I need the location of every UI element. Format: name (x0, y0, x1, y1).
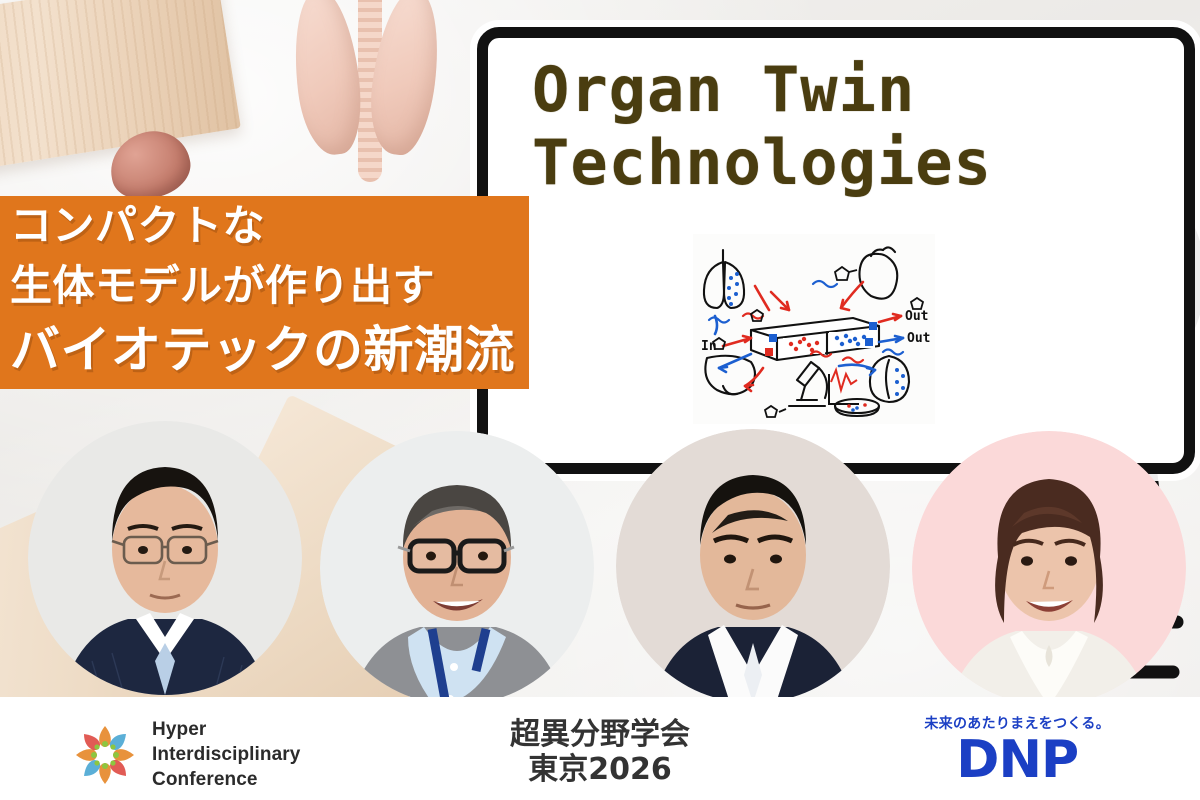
lung-model-prop (296, 0, 446, 197)
lung-lobe-left (286, 0, 368, 158)
chip-label-out-bottom: Out (907, 331, 930, 346)
speaker-3-illustration (616, 429, 890, 703)
whiteboard-title: Organ Twin Technologies (532, 54, 992, 199)
chip-label-in: In (701, 339, 717, 354)
speaker-4-illustration (912, 431, 1186, 705)
chip-label-out-top: Out (905, 309, 928, 324)
dnp-logo-block[interactable]: 未来のあたりまえをつくる。 DNP (924, 713, 1110, 786)
headline-line-3: バイオテックの新潮流 (0, 315, 529, 389)
speaker-2-illustration (320, 431, 594, 705)
headline-block: コンパクトな 生体モデルが作り出す バイオテックの新潮流 (0, 196, 529, 389)
speaker-portrait-1 (28, 421, 302, 695)
headline-line-1: コンパクトな (0, 196, 529, 256)
whiteboard: Organ Twin Technologies (477, 27, 1195, 474)
speaker-portrait-3 (616, 429, 890, 703)
poster-canvas: Organ Twin Technologies (0, 0, 1200, 800)
speaker-portrait-4 (912, 431, 1186, 705)
headline-line-2: 生体モデルが作り出す (0, 256, 529, 316)
organ-on-chip-illustration: Out Out In (693, 234, 935, 424)
organ-on-chip-diagram: Out Out In (693, 234, 935, 424)
footer-bar: Hyper Interdisciplinary Conference 超異分野学… (0, 697, 1200, 800)
speaker-portrait-row (0, 415, 1200, 705)
speaker-portrait-2 (320, 431, 594, 705)
dnp-wordmark: DNP (924, 734, 1110, 786)
speaker-1-illustration (28, 421, 302, 695)
